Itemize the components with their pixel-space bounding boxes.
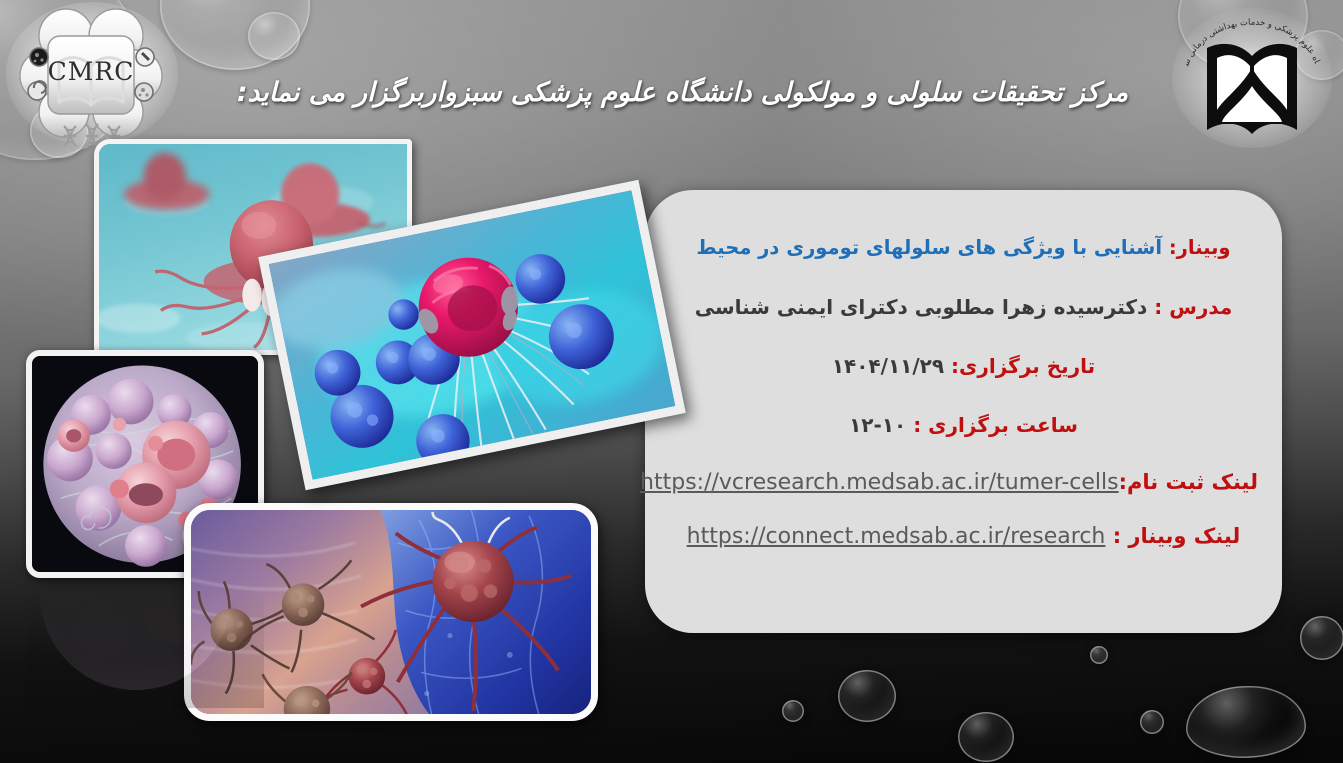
bubble-decoration	[1300, 616, 1343, 660]
bubble-decoration	[1186, 686, 1306, 758]
register-link-line: لینک ثبت نام:https://vcresearch.medsab.a…	[669, 472, 1258, 494]
speaker-name: دکترسیده زهرا مطلوبی دکترای ایمنی شناسی	[695, 295, 1148, 319]
webinar-link-url[interactable]: https://connect.medsab.ac.ir/research	[687, 524, 1106, 549]
bubble-decoration	[838, 670, 896, 722]
date-label: تاریخ برگزاری:	[951, 354, 1095, 378]
bubble-decoration	[1090, 646, 1108, 664]
webinar-poster: CMRC	[0, 0, 1343, 763]
bubble-decoration	[958, 712, 1014, 762]
speaker-line: مدرس : دکترسیده زهرا مطلوبی دکترای ایمنی…	[669, 297, 1258, 317]
bubble-decoration	[248, 12, 300, 60]
webinar-title-line: وبینار: آشنایی با ویژگی های سلولهای تومو…	[669, 238, 1258, 258]
date-value: ۱۴۰۴/۱۱/۲۹	[832, 354, 944, 378]
bubble-decoration	[782, 700, 804, 722]
webinar-title: آشنایی با ویژگی های سلولهای توموری در مح…	[696, 236, 1162, 259]
webinar-link-line: لینک وبینار : https://connect.medsab.ac.…	[669, 526, 1258, 548]
bubble-decoration	[1140, 710, 1164, 734]
webinar-link-label: لینک وبینار :	[1113, 524, 1241, 548]
time-value: ۱۰-۱۲	[849, 413, 906, 437]
time-line: ساعت برگزاری : ۱۰-۱۲	[669, 415, 1258, 435]
university-logo: دانشگاه علوم پزشکی و خدمات بهداشتی درمان…	[1167, 2, 1337, 152]
date-line: تاریخ برگزاری: ۱۴۰۴/۱۱/۲۹	[669, 356, 1258, 376]
speaker-label: مدرس :	[1154, 295, 1232, 319]
cmrc-logo: CMRC	[4, 2, 186, 150]
page-title: مرکز تحقیقات سلولی و مولکولی دانشگاه علو…	[200, 76, 1165, 109]
info-panel: وبینار: آشنایی با ویژگی های سلولهای تومو…	[645, 190, 1282, 633]
photo-reflection	[26, 588, 264, 708]
time-label: ساعت برگزاری :	[913, 413, 1078, 437]
register-link-label: لینک ثبت نام:	[1119, 470, 1258, 494]
webinar-label: وبینار:	[1169, 236, 1231, 259]
register-link-url[interactable]: https://vcresearch.medsab.ac.ir/tumer-ce…	[640, 470, 1119, 495]
cmrc-acronym: CMRC	[48, 57, 135, 86]
